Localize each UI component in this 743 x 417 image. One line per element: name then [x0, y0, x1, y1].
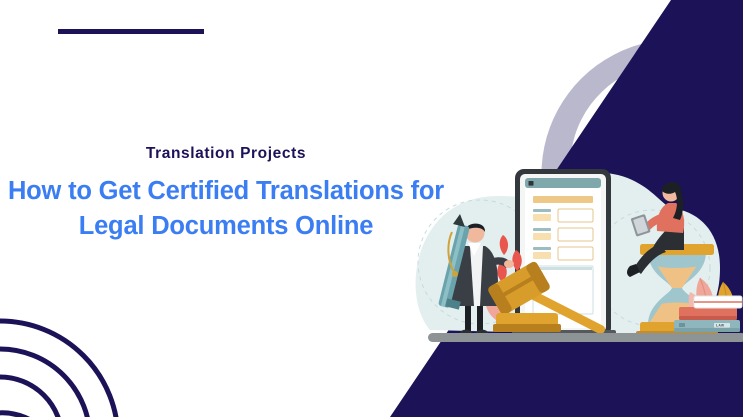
headline-line-2: Legal Documents Online	[79, 212, 374, 240]
close-icon	[529, 181, 534, 186]
book-spine-label: LAW	[716, 324, 725, 328]
eyebrow-label: Translation Projects	[0, 145, 452, 162]
screen-form-rows	[533, 209, 593, 260]
blog-banner: LAW Translation Projects How to Get Cert…	[0, 0, 743, 417]
ground-bar	[428, 333, 743, 342]
text-block: Translation Projects How to Get Certifie…	[0, 145, 452, 244]
headline-line-1: How to Get Certified Translations for	[8, 177, 444, 205]
page-title: How to Get Certified Translations forLeg…	[0, 174, 452, 244]
screen-banner-field	[533, 196, 593, 203]
